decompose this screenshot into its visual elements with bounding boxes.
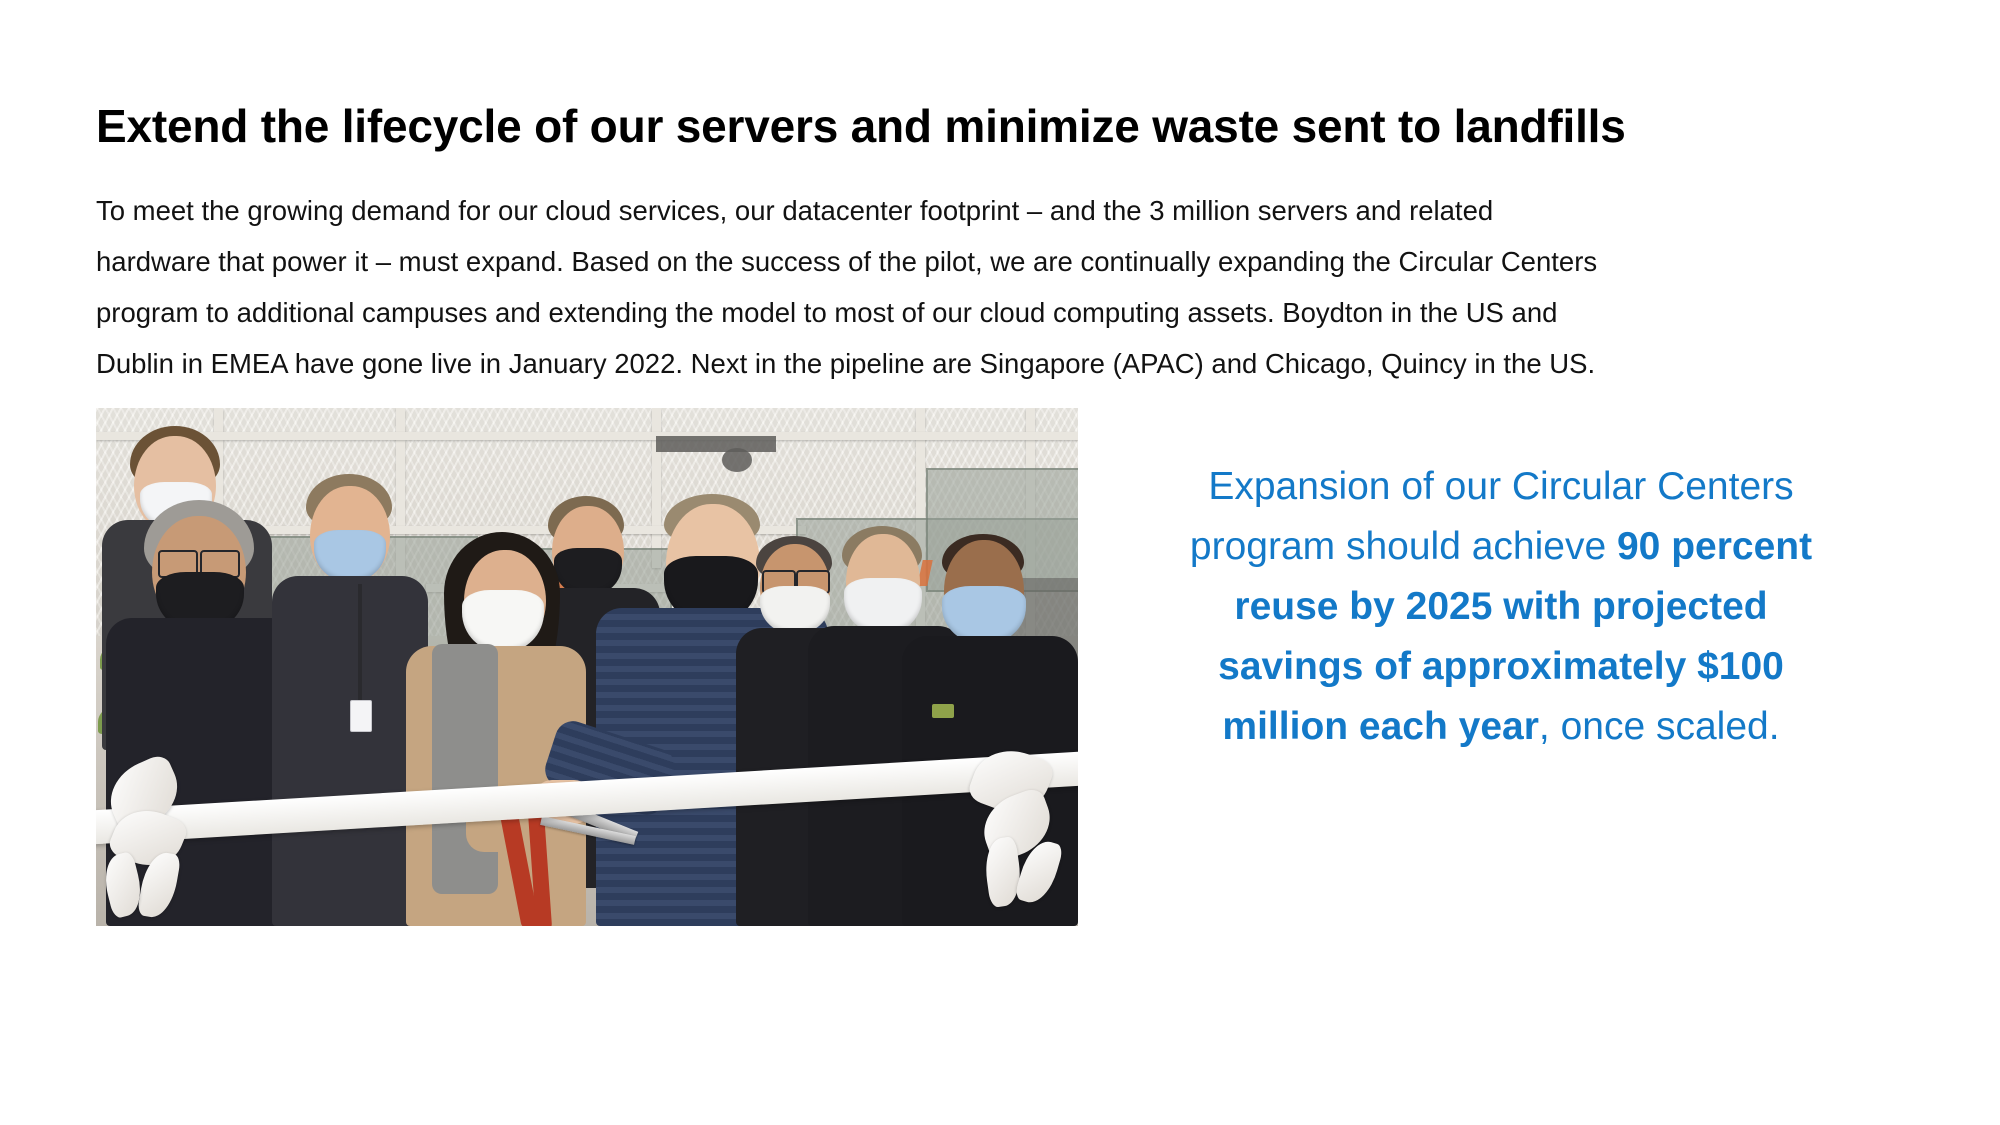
callout-statistic: Expansion of our Circular Centers progra… [1182,457,1820,757]
body-line-1: To meet the growing demand for our cloud… [96,185,1912,236]
photo-scene [96,408,1078,926]
torso [272,576,428,926]
ceiling-fixture [656,436,776,452]
logo-patch [932,704,954,718]
ceiling-fixture [722,448,752,472]
ribbon-bow-left [104,756,224,906]
callout-tail: , once scaled. [1539,705,1780,748]
ribbon-bow-right [968,744,1078,894]
body-line-1-text: To meet the growing demand for our cloud… [96,185,1493,236]
body-line-4: Dublin in EMEA have gone live in January… [96,338,1912,389]
body-paragraph: To meet the growing demand for our cloud… [96,185,1912,389]
badge [350,700,372,732]
body-line-3: program to additional campuses and exten… [96,287,1912,338]
lanyard [358,584,362,704]
scarf [432,644,498,894]
body-line-3-text: program to additional campuses and exten… [96,287,1557,338]
body-line-2-text: hardware that power it – must expand. Ba… [96,236,1597,287]
page-title: Extend the lifecycle of our servers and … [96,99,1936,153]
ribbon-cutting-photo [96,408,1078,926]
ceiling-beam [96,432,1078,440]
body-line-4-text: Dublin in EMEA have gone live in January… [96,348,1595,379]
body-line-2: hardware that power it – must expand. Ba… [96,236,1912,287]
